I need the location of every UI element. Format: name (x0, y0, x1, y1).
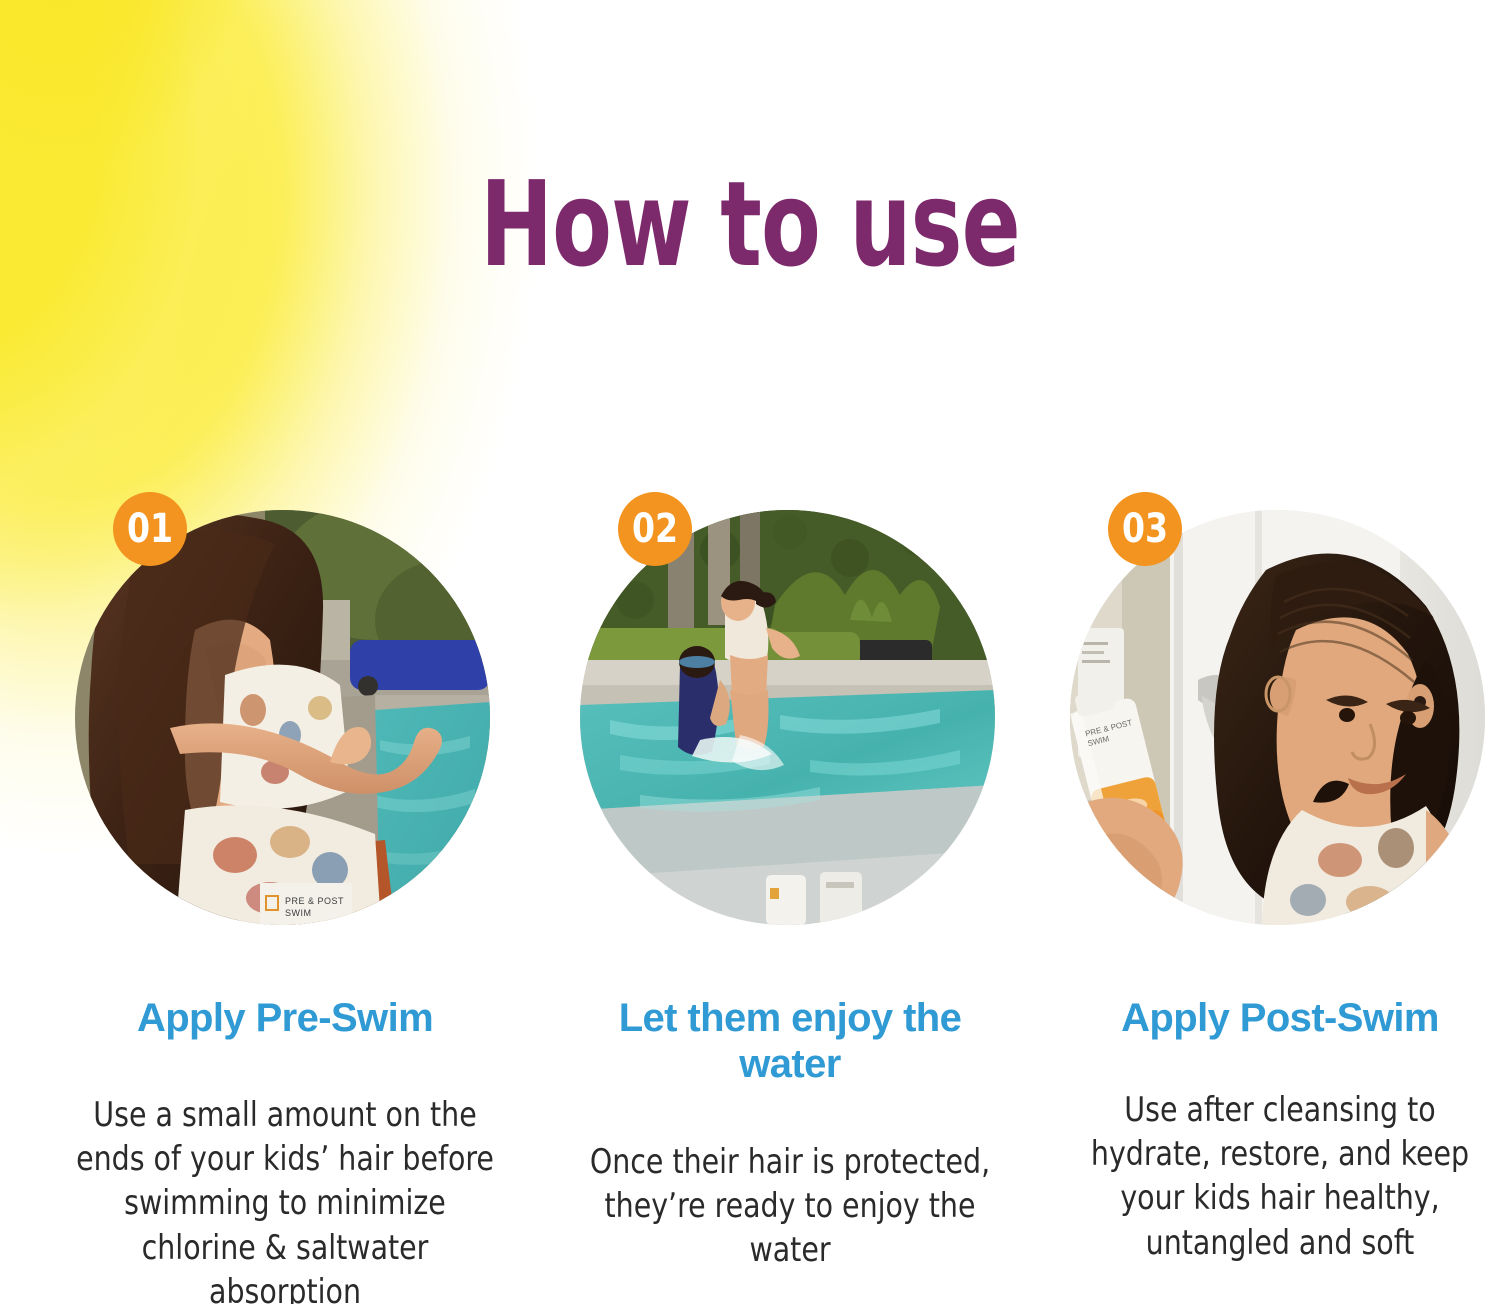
step-03-media: PRE & POST SWIM kids (1070, 510, 1485, 925)
steps-container: PRE & POST SWIM 01 Apply Pre-Swim Use a … (0, 0, 1500, 1304)
step-badge-02: 02 (618, 492, 692, 566)
svg-text:PRE & POST: PRE & POST (285, 896, 344, 906)
step-badge-02-label: 02 (632, 509, 678, 549)
step-01-media: PRE & POST SWIM 01 (75, 510, 490, 925)
poolside-girl-illustration: PRE & POST SWIM (75, 510, 490, 925)
step-03-body: Use after cleansing to hydrate, restore,… (1071, 1088, 1490, 1265)
step-01-heading: Apply Pre-Swim (60, 995, 510, 1041)
step-badge-01-label: 01 (127, 509, 173, 549)
step-badge-03: 03 (1108, 492, 1182, 566)
step-badge-03-label: 03 (1122, 509, 1168, 549)
step-02-media: 02 (580, 510, 995, 925)
step-01-photo: PRE & POST SWIM (75, 510, 490, 925)
step-02-heading: Let them enjoy the water (565, 995, 1015, 1088)
step-02-body: Once their hair is protected, they’re re… (581, 1140, 1000, 1273)
svg-text:SWIM: SWIM (285, 908, 312, 918)
step-02-photo (580, 510, 995, 925)
girl-with-bottle-illustration: PRE & POST SWIM kids (1070, 510, 1485, 925)
step-badge-01: 01 (113, 492, 187, 566)
step-01-body: Use a small amount on the ends of your k… (76, 1093, 495, 1304)
kids-in-pool-illustration (580, 510, 995, 925)
step-03-heading: Apply Post-Swim (1051, 995, 1500, 1041)
how-to-use-infographic: How to use (0, 0, 1500, 1304)
step-03-photo: PRE & POST SWIM kids (1070, 510, 1485, 925)
